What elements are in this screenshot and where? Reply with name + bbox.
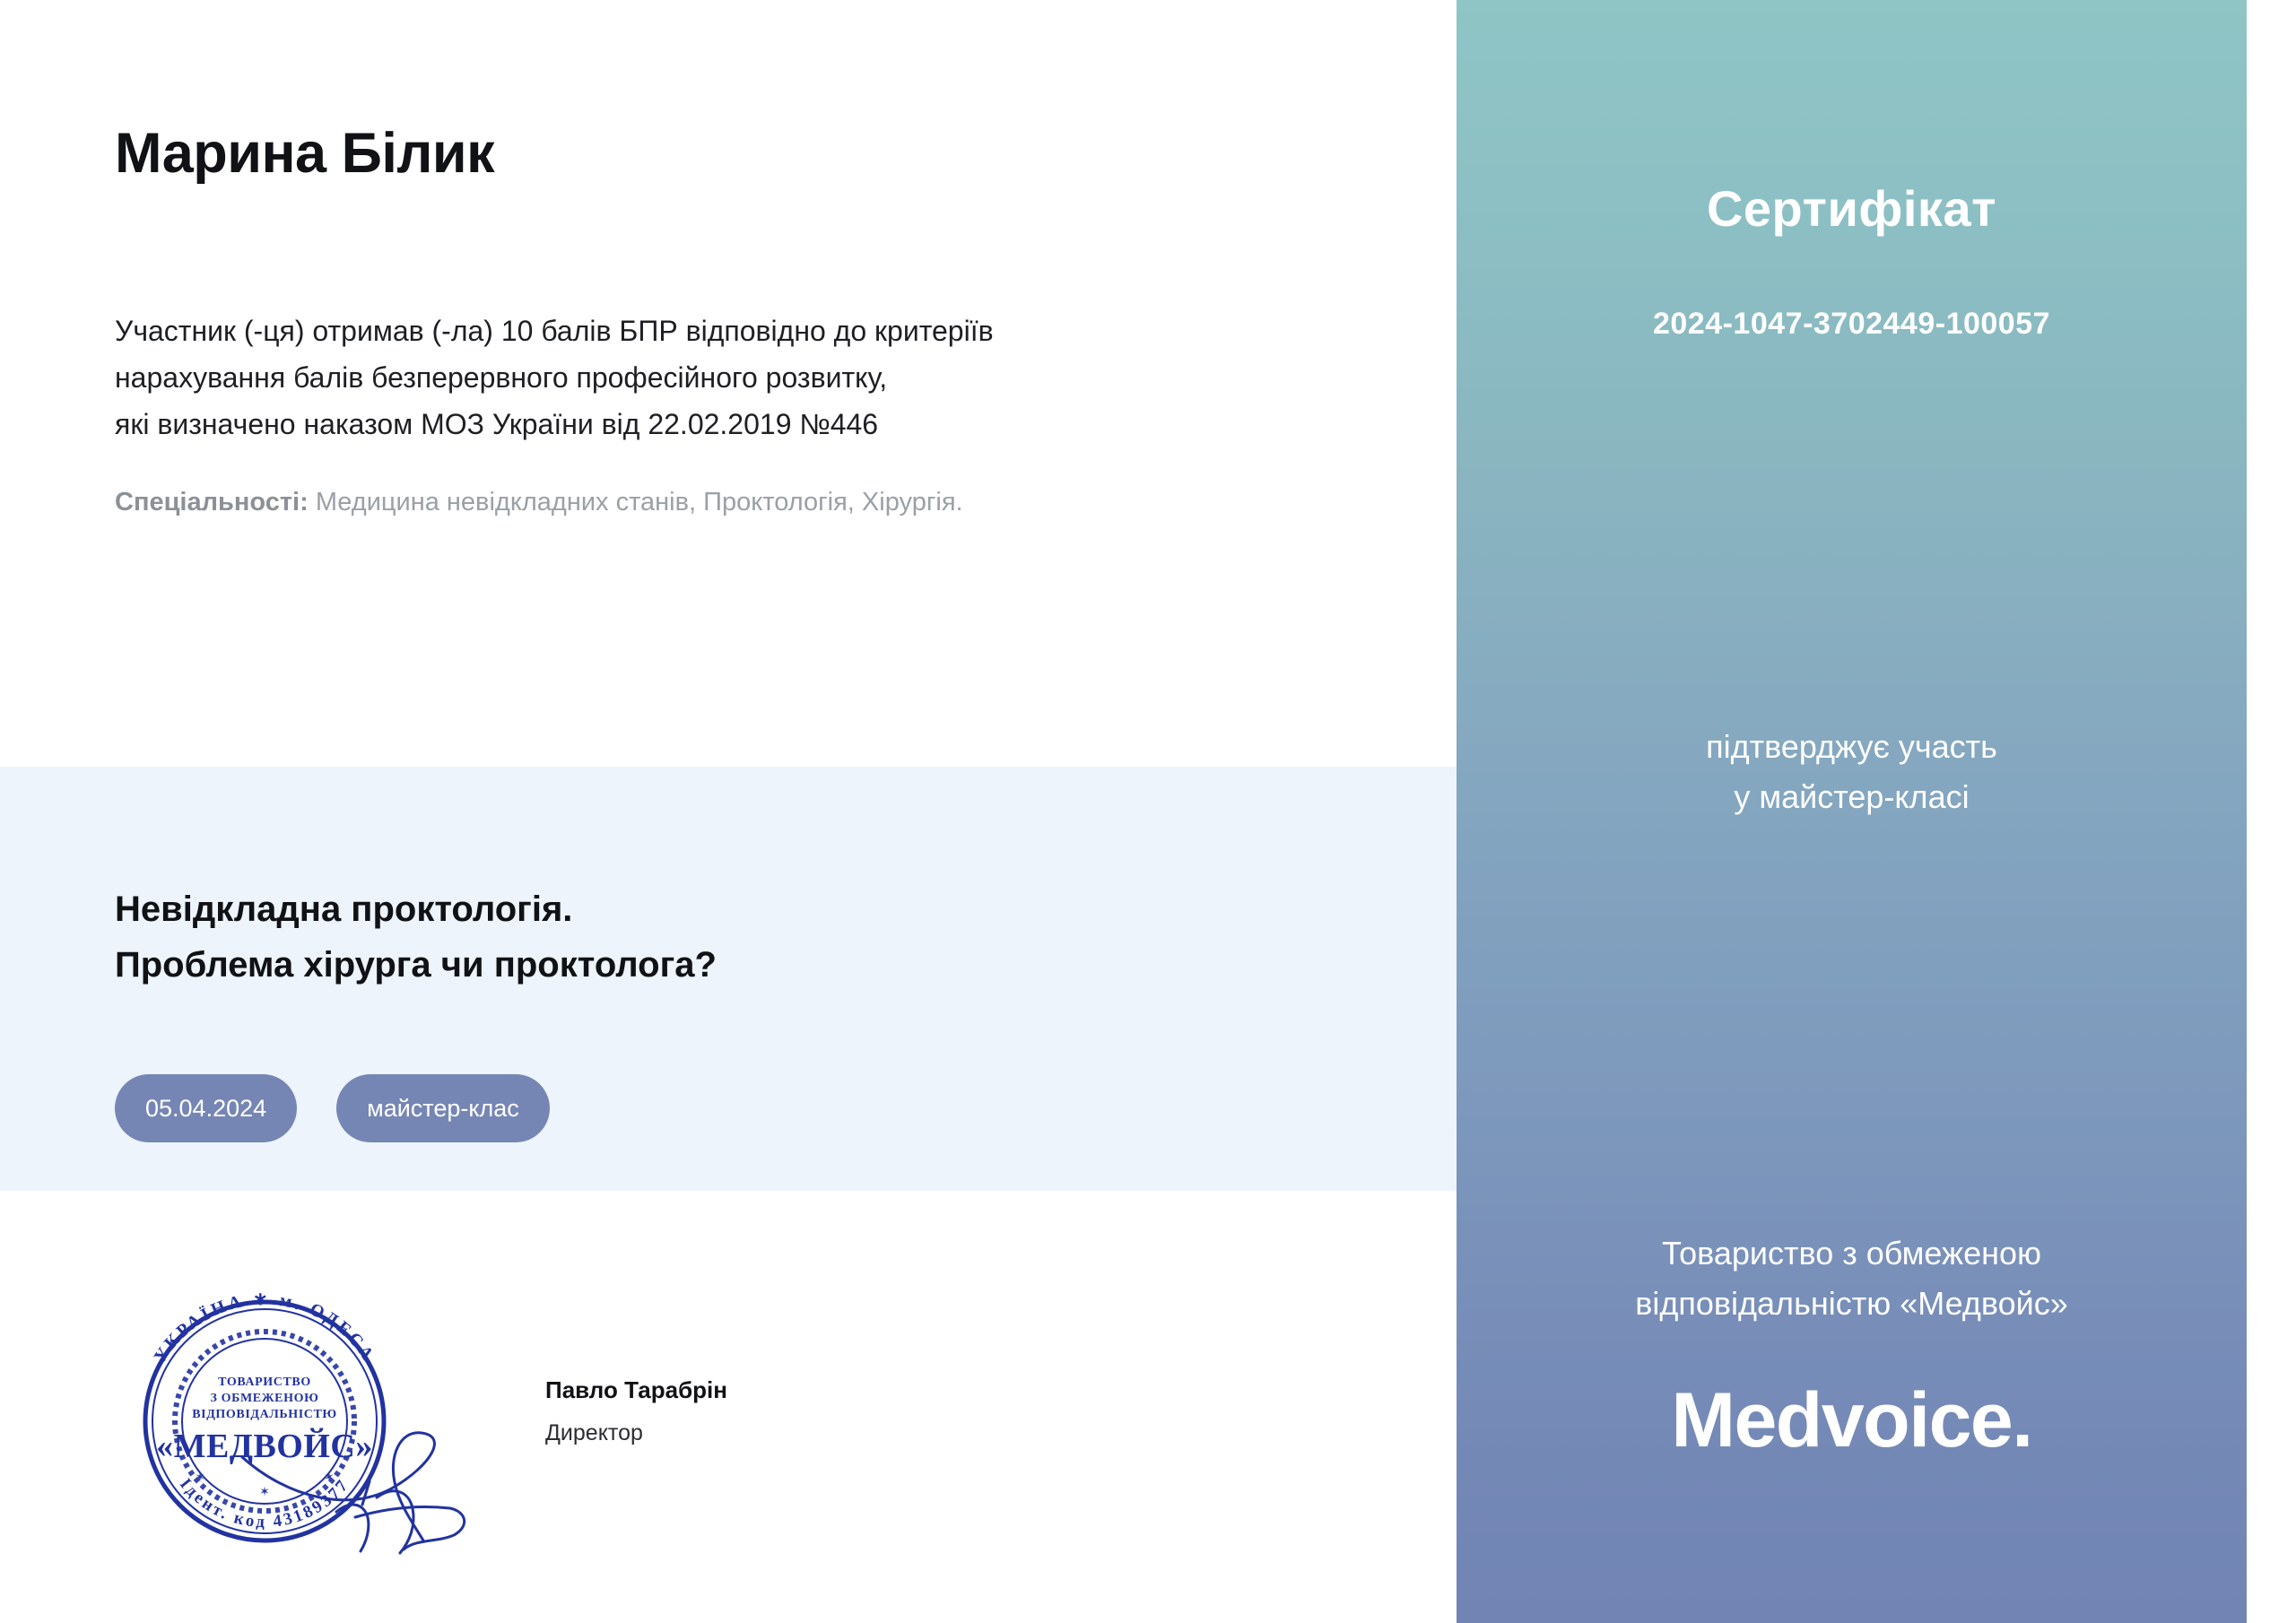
certificate-left-column: Марина Білик Участник (-ця) отримав (-ла… [0, 0, 1457, 1623]
credit-statement: Участник (-ця) отримав (-ла) 10 балів БП… [115, 308, 1191, 447]
format-tag: майстер-клас [336, 1074, 550, 1142]
specialties-label: Спеціальності: [115, 488, 309, 516]
medvoice-logo: Medvoice. [1457, 1376, 2247, 1465]
confirmation-text: підтверджує участь у майстер-класі [1457, 722, 2247, 822]
course-title: Невідкладна проктологія. Проблема хірург… [115, 881, 717, 993]
signature-area: УКРАЇНА ∗ м. ОДЕСА Ідент. код 43189377 Т… [0, 1237, 1457, 1623]
seal-inner-line-1: ТОВАРИСТВО [218, 1376, 311, 1389]
course-title-line-2: Проблема хірурга чи проктолога? [115, 937, 717, 993]
signatory-block: Павло Тарабрін Директор [545, 1376, 727, 1446]
date-tag: 05.04.2024 [115, 1074, 297, 1142]
course-tags: 05.04.2024 майстер-клас [115, 1074, 550, 1142]
seal-star-right-icon: ✶ [324, 1470, 335, 1484]
specialties-value: Медицина невідкладних станів, Проктологі… [316, 488, 963, 516]
recipient-name: Марина Білик [115, 121, 494, 186]
issuing-organization-line-1: Товариство з обмеженою [1457, 1228, 2247, 1279]
certificate-page: Марина Білик Участник (-ця) отримав (-ла… [0, 0, 2296, 1623]
company-seal-stamp: УКРАЇНА ∗ м. ОДЕСА Ідент. код 43189377 Т… [108, 1273, 493, 1560]
seal-star-left-icon: ✶ [195, 1470, 205, 1484]
course-title-line-1: Невідкладна проктологія. [115, 881, 717, 937]
certificate-serial-number: 2024-1047-3702449-100057 [1457, 307, 2247, 342]
course-band: Невідкладна проктологія. Проблема хірург… [0, 767, 1457, 1191]
issuing-organization-line-2: відповідальністю «Медвойс» [1457, 1279, 2247, 1329]
credit-statement-line-2: нарахування балів безперервного професій… [115, 354, 1191, 401]
credit-statement-line-3: які визначено наказом МОЗ України від 22… [115, 401, 1191, 447]
credit-statement-line-1: Участник (-ця) отримав (-ла) 10 балів БП… [115, 308, 1191, 354]
seal-icon: УКРАЇНА ∗ м. ОДЕСА Ідент. код 43189377 Т… [108, 1273, 493, 1560]
certificate-right-panel: Сертифікат 2024-1047-3702449-100057 підт… [1457, 0, 2247, 1623]
confirmation-line-1: підтверджує участь [1457, 722, 2247, 772]
issuing-organization: Товариство з обмеженою відповідальністю … [1457, 1228, 2247, 1329]
confirmation-line-2: у майстер-класі [1457, 772, 2247, 822]
certificate-title: Сертифікат [1457, 179, 2247, 238]
svg-text:УКРАЇНА ∗ м. ОДЕСА: УКРАЇНА ∗ м. ОДЕСА [150, 1289, 378, 1367]
seal-outer-top-text: УКРАЇНА ∗ м. ОДЕСА [150, 1289, 378, 1367]
seal-star-center-icon: ✶ [259, 1484, 270, 1498]
seal-inner-line-2: З ОБМЕЖЕНОЮ [211, 1392, 319, 1405]
seal-company-name: «МЕДВОЙС» [156, 1428, 373, 1465]
specialties-row: Спеціальності: Медицина невідкладних ста… [115, 484, 963, 520]
seal-inner-line-3: ВІДПОВІДАЛЬНІСТЮ [192, 1408, 337, 1421]
signatory-name: Павло Тарабрін [545, 1376, 727, 1404]
signatory-role: Директор [545, 1420, 727, 1446]
